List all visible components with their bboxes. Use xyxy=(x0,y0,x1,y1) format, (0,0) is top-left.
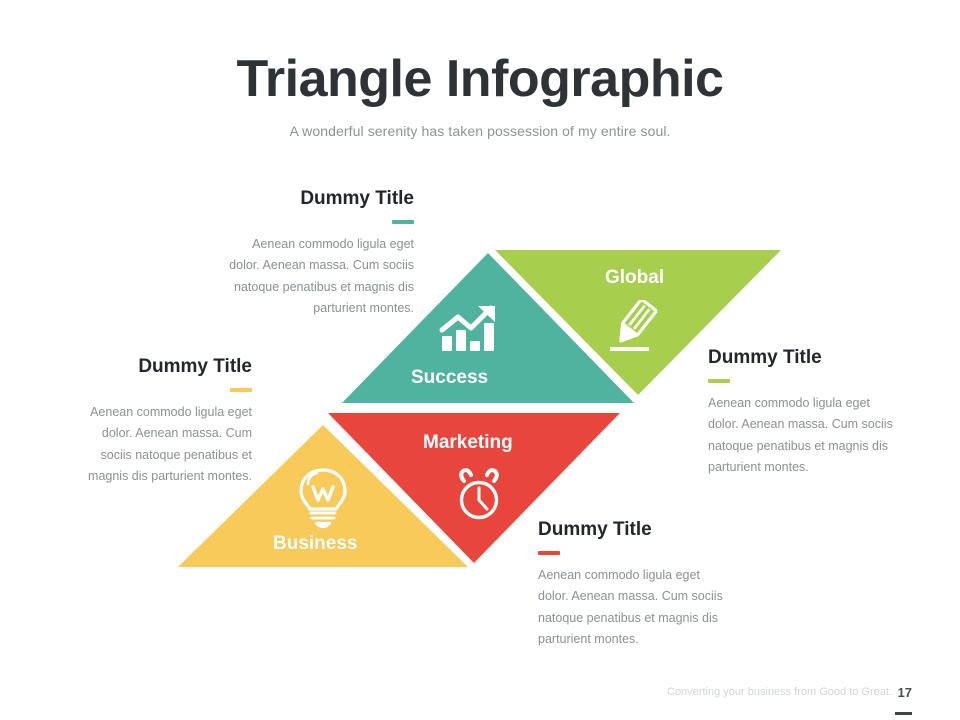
page-number: 17 xyxy=(898,685,912,700)
lightbulb-idea-icon xyxy=(295,467,351,534)
callout-top-accent-rule xyxy=(392,220,414,224)
slide-canvas: Triangle Infographic A wonderful serenit… xyxy=(0,0,960,720)
callout-top: Dummy Title Aenean commodo ligula eget d… xyxy=(228,188,414,320)
footer-dash-mark xyxy=(895,712,912,715)
alarm-clock-icon xyxy=(451,467,507,528)
callout-top-title: Dummy Title xyxy=(228,188,414,211)
callout-right-title: Dummy Title xyxy=(708,347,893,370)
callout-bottom: Dummy Title Aenean commodo ligula eget d… xyxy=(538,519,723,651)
triangle-label-global: Global xyxy=(605,267,664,289)
callout-bottom-accent-rule xyxy=(538,551,560,555)
triangle-label-success: Success xyxy=(411,367,488,389)
callout-top-body: Aenean commodo ligula eget dolor. Aenean… xyxy=(228,234,414,320)
page-title: Triangle Infographic xyxy=(0,52,960,107)
footer-tagline: Converting your business from Good to Gr… xyxy=(667,686,892,698)
triangle-label-business: Business xyxy=(273,533,357,555)
callout-left-body: Aenean commodo ligula eget dolor. Aenean… xyxy=(70,402,252,488)
callout-left: Dummy Title Aenean commodo ligula eget d… xyxy=(70,356,252,488)
callout-left-title: Dummy Title xyxy=(70,356,252,379)
callout-bottom-title: Dummy Title xyxy=(538,519,723,542)
callout-right-accent-rule xyxy=(708,379,730,383)
pencil-edit-icon xyxy=(607,300,665,359)
triangle-label-marketing: Marketing xyxy=(423,432,513,454)
callout-right: Dummy Title Aenean commodo ligula eget d… xyxy=(708,347,893,479)
callout-bottom-body: Aenean commodo ligula eget dolor. Aenean… xyxy=(538,565,723,651)
callout-left-accent-rule xyxy=(230,388,252,392)
callout-right-body: Aenean commodo ligula eget dolor. Aenean… xyxy=(708,393,893,479)
page-subtitle: A wonderful serenity has taken possessio… xyxy=(0,123,960,139)
bar-chart-growth-icon xyxy=(438,303,500,360)
